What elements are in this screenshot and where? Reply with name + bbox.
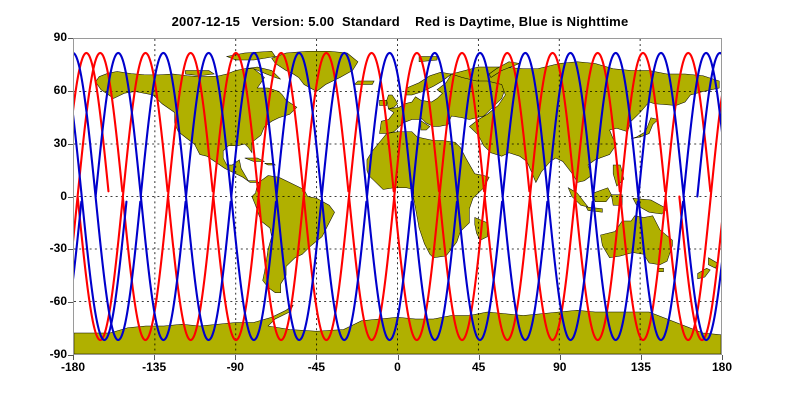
land-borneo <box>593 188 611 202</box>
x-tick-label: -180 <box>43 360 103 374</box>
land-new-zealand-n <box>708 258 717 269</box>
land-iceland <box>354 81 374 85</box>
x-tick-label: -135 <box>124 360 184 374</box>
x-tick-label: -90 <box>205 360 265 374</box>
y-tick-mark <box>68 249 73 250</box>
x-tick-mark <box>316 355 317 360</box>
x-tick-mark <box>641 355 642 360</box>
y-tick-label: 30 <box>25 136 67 150</box>
x-tick-label: -45 <box>286 360 346 374</box>
y-tick-label: 90 <box>25 30 67 44</box>
x-tick-label: 45 <box>449 360 509 374</box>
x-tick-mark <box>398 355 399 360</box>
x-tick-mark <box>722 355 723 360</box>
x-tick-label: 180 <box>692 360 752 374</box>
y-tick-label: 60 <box>25 83 67 97</box>
land-britain <box>387 95 398 109</box>
x-tick-label: 90 <box>530 360 590 374</box>
y-tick-label: -30 <box>25 241 67 255</box>
y-tick-mark <box>68 302 73 303</box>
y-tick-mark <box>68 144 73 145</box>
land-africa <box>367 132 489 258</box>
y-tick-label: -90 <box>25 347 67 361</box>
figure-title: 2007-12-15 Version: 5.00 Standard Red is… <box>0 14 800 29</box>
land-sumatra <box>568 188 588 207</box>
y-tick-mark <box>68 197 73 198</box>
x-tick-mark <box>479 355 480 360</box>
x-tick-label: 0 <box>368 360 428 374</box>
x-tick-label: 135 <box>611 360 671 374</box>
map-canvas <box>74 39 721 354</box>
y-tick-label: 0 <box>25 189 67 203</box>
x-tick-mark <box>154 355 155 360</box>
x-tick-mark <box>235 355 236 360</box>
y-tick-label: -60 <box>25 294 67 308</box>
y-tick-mark <box>68 38 73 39</box>
x-tick-mark <box>73 355 74 360</box>
x-tick-mark <box>560 355 561 360</box>
y-tick-mark <box>68 91 73 92</box>
ground-track-map-figure: 2007-12-15 Version: 5.00 Standard Red is… <box>0 0 800 400</box>
map-plot-area <box>73 38 722 355</box>
